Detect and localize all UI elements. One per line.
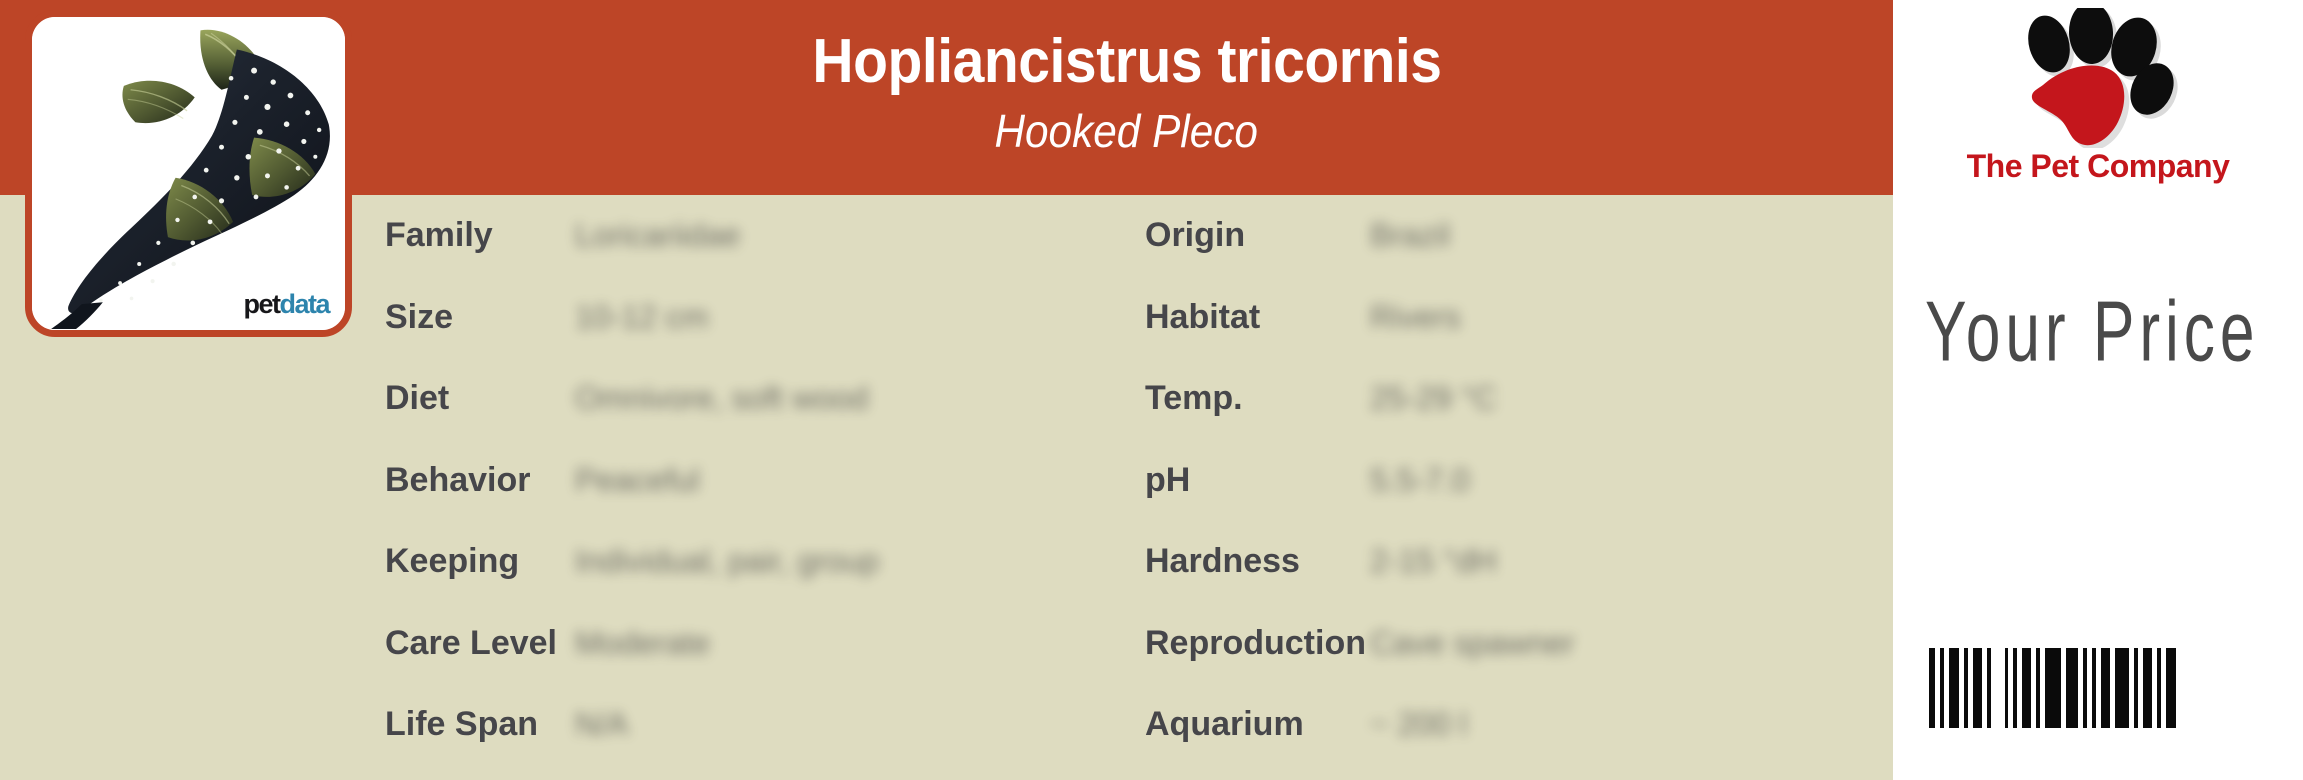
spec-value-origin: Brazil [1370,217,1450,254]
spec-row-family: Family Loricariidae [385,195,1145,277]
spec-value-keeping: Individual, pair, group [575,543,879,580]
spec-row-temp: Temp. 25-29 °C [1145,358,1885,440]
spec-column-left: Family Loricariidae Size 10-12 cm Diet O… [385,195,1145,780]
spec-row-origin: Origin Brazil [1145,195,1885,277]
your-price-label: Your Price [1925,290,2259,375]
spec-label-behavior: Behavior [385,461,575,500]
spec-row-diet: Diet Omnivore, soft wood [385,358,1145,440]
barcode [1929,648,2176,728]
brand-logo: The Pet Company [1948,8,2248,193]
barcode-bar [1973,648,1982,728]
spec-label-origin: Origin [1145,216,1370,255]
petdata-data-text: data [279,289,329,319]
barcode-space [1991,648,2005,728]
barcode-bar [2166,648,2176,728]
spec-row-behavior: Behavior Peaceful [385,440,1145,522]
paw-print-icon [1948,8,2248,148]
spec-label-reproduction: Reproduction [1145,624,1370,663]
pet-data-label: Hopliancistrus tricornis Hooked Pleco [0,0,2303,780]
spec-row-keeping: Keeping Individual, pair, group [385,521,1145,603]
spec-value-reproduction: Cave spawner [1370,625,1575,662]
barcode-bar [2066,648,2078,728]
spec-label-temp: Temp. [1145,379,1370,418]
main-info-panel: Hopliancistrus tricornis Hooked Pleco [0,0,1893,780]
barcode-bar [2022,648,2031,728]
common-name-subtitle: Hooked Pleco [995,104,1258,159]
barcode-bar [1949,648,1959,728]
spec-column-right: Origin Brazil Habitat Rivers Temp. 25-29… [1145,195,1885,780]
species-photo-card[interactable]: petdata [25,10,352,337]
spec-label-hardness: Hardness [1145,542,1370,581]
spec-value-ph: 5.5-7.0 [1370,462,1470,499]
spec-label-diet: Diet [385,379,575,418]
spec-value-hardness: 2-15 °dH [1370,543,1497,580]
spec-value-aquarium: ~ 200 l [1370,706,1467,743]
pleco-fish-photo [32,17,345,330]
spec-row-life-span: Life Span N/A [385,684,1145,766]
barcode-bar [2045,648,2061,728]
price-panel: The Pet Company Your Price [1893,0,2303,780]
spec-value-life-span: N/A [575,706,628,743]
spec-label-care-level: Care Level [385,624,575,663]
spec-label-life-span: Life Span [385,705,575,744]
spec-row-habitat: Habitat Rivers [1145,277,1885,359]
barcode-bar [2115,648,2129,728]
spec-value-care-level: Moderate [575,625,710,662]
spec-value-family: Loricariidae [575,217,740,254]
spec-label-family: Family [385,216,575,255]
petdata-pet-text: pet [243,289,279,319]
spec-row-reproduction: Reproduction Cave spawner [1145,603,1885,685]
spec-value-diet: Omnivore, soft wood [575,380,868,417]
spec-row-size: Size 10-12 cm [385,277,1145,359]
page-title: Hopliancistrus tricornis [812,29,1441,94]
spec-row-ph: pH 5.5-7.0 [1145,440,1885,522]
spec-label-aquarium: Aquarium [1145,705,1370,744]
spec-value-temp: 25-29 °C [1370,380,1497,417]
spec-row-care-level: Care Level Moderate [385,603,1145,685]
spec-label-ph: pH [1145,461,1370,500]
spec-label-habitat: Habitat [1145,298,1370,337]
spec-value-size: 10-12 cm [575,299,708,336]
spec-row-aquarium: Aquarium ~ 200 l [1145,684,1885,766]
spec-value-behavior: Peaceful [575,462,700,499]
spec-label-keeping: Keeping [385,542,575,581]
petdata-watermark: petdata [243,291,329,318]
header-title-block: Hopliancistrus tricornis Hooked Pleco [360,0,1893,195]
barcode-bar [2143,648,2152,728]
barcode-bar [2101,648,2110,728]
spec-value-habitat: Rivers [1370,299,1461,336]
spec-label-size: Size [385,298,575,337]
brand-name: The Pet Company [1948,150,2248,182]
spec-row-hardness: Hardness 2-15 °dH [1145,521,1885,603]
